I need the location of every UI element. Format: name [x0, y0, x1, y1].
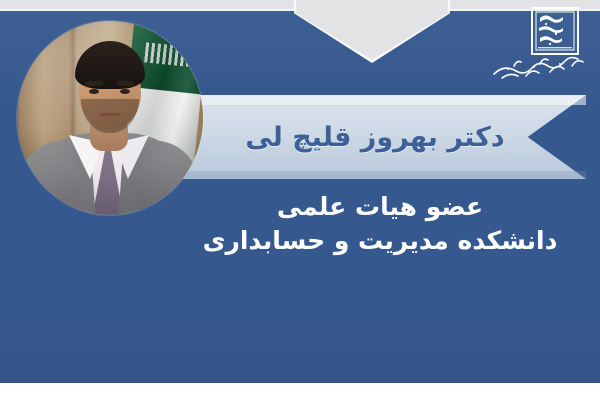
person-role: عضو هیات علمی: [180, 190, 580, 224]
person-role-block: عضو هیات علمی دانشکده مدیریت و حسابداری: [180, 190, 580, 257]
person-department: دانشکده مدیریت و حسابداری: [180, 224, 580, 258]
university-logo: [488, 4, 592, 92]
portrait-avatar: [17, 21, 203, 215]
portrait-image: [17, 21, 203, 215]
portrait-vignette: [17, 21, 203, 215]
person-name: دکتر بهروز قلیچ لی: [210, 95, 540, 179]
faculty-profile-card: دکتر بهروز قلیچ لی عضو هیات علمی دانشکده…: [0, 0, 600, 400]
